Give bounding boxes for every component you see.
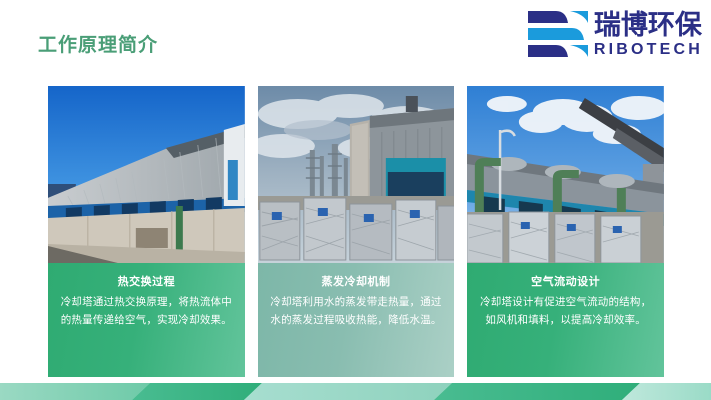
card-row: 热交换过程 冷却塔通过热交换原理，将热流体中的热量传递给空气，实现冷却效果。 — [48, 86, 664, 377]
card-1-photo — [48, 86, 245, 263]
card-2-photo — [258, 86, 455, 263]
footer-chevron-shapes — [0, 379, 711, 400]
card-2-body: 蒸发冷却机制 冷却塔利用水的蒸发带走热量，通过水的蒸发过程吸收热能，降低水温。 — [258, 263, 455, 377]
content-card-3[interactable]: 空气流动设计 冷却塔设计有促进空气流动的结构，如风机和填料，以提高冷却效率。 — [467, 86, 664, 377]
logo-name-en: RIBOTECH — [594, 42, 703, 58]
footer-decoration — [0, 379, 711, 400]
card-2-text: 冷却塔利用水的蒸发带走热量，通过水的蒸发过程吸收热能，降低水温。 — [269, 294, 444, 329]
content-card-2[interactable]: 蒸发冷却机制 冷却塔利用水的蒸发带走热量，通过水的蒸发过程吸收热能，降低水温。 — [258, 86, 455, 377]
card-1-heading: 热交换过程 — [59, 275, 234, 290]
content-card-1[interactable]: 热交换过程 冷却塔通过热交换原理，将热流体中的热量传递给空气，实现冷却效果。 — [48, 86, 245, 377]
card-3-photo — [467, 86, 664, 263]
company-logo: 瑞博环保 RIBOTECH — [526, 8, 703, 62]
card-1-body: 热交换过程 冷却塔通过热交换原理，将热流体中的热量传递给空气，实现冷却效果。 — [48, 263, 245, 377]
logo-name-cn: 瑞博环保 — [594, 12, 702, 39]
page-title: 工作原理简介 — [38, 30, 158, 57]
card-2-heading: 蒸发冷却机制 — [269, 275, 444, 290]
card-3-heading: 空气流动设计 — [478, 275, 653, 290]
card-3-text: 冷却塔设计有促进空气流动的结构，如风机和填料，以提高冷却效率。 — [478, 294, 653, 329]
logo-wordmark: 瑞博环保 RIBOTECH — [594, 12, 703, 58]
card-1-text: 冷却塔通过热交换原理，将热流体中的热量传递给空气，实现冷却效果。 — [59, 294, 234, 329]
slide-header: 工作原理简介 瑞博环保 RIBOTECH — [0, 0, 711, 80]
card-3-body: 空气流动设计 冷却塔设计有促进空气流动的结构，如风机和填料，以提高冷却效率。 — [467, 263, 664, 377]
logo-mark-icon — [526, 8, 590, 62]
